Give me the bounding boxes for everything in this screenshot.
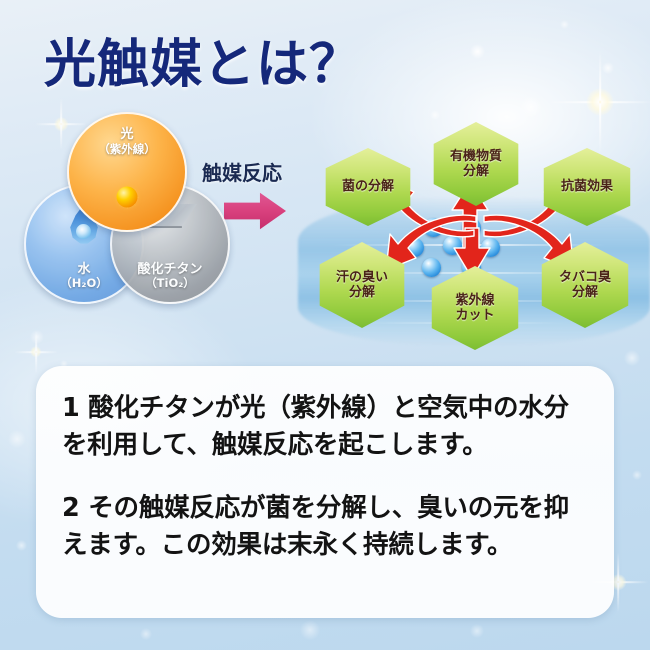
explanation-paragraph-2: 2 その触媒反応が菌を分解し、臭いの元を抑えます。この効果は末永く持続します。 (62, 490, 588, 564)
venn-diagram: 水 （H₂O） 酸化チタン （TiO₂） 光 （紫外線） (22, 112, 232, 317)
venn-label-light-main: 光 (120, 127, 133, 142)
hexagon-sweat-line2: 分解 (336, 285, 388, 300)
explanation-panel: 1 酸化チタンが光（紫外線）と空気中の水分を利用して、触媒反応を起こします。 2… (36, 366, 614, 618)
venn-label-light-sub: （紫外線） (69, 143, 185, 156)
explanation-paragraph-1: 1 酸化チタンが光（紫外線）と空気中の水分を利用して、触媒反応を起こします。 (62, 390, 588, 464)
hexagon-antibacterial-line1: 抗菌効果 (561, 179, 613, 194)
venn-circle-light: 光 （紫外線） (67, 112, 187, 232)
venn-label-tio2-main: 酸化チタン (137, 262, 202, 277)
hexagon-bacteria-line1: 菌の分解 (342, 179, 394, 194)
hexagon-uvcut-line1: 紫外線 (455, 293, 494, 308)
hexagon-tobacco-line2: 分解 (559, 285, 611, 300)
catalytic-reaction-label: 触媒反応 (202, 157, 282, 186)
sun-icon (104, 174, 150, 220)
right-arrow-icon (224, 192, 286, 230)
hexagon-tobacco-line1: タバコ臭 (559, 270, 611, 285)
effects-cluster: 有機物質 分解 菌の分解 抗菌効果 汗の臭い 分解 タバコ臭 分解 (300, 122, 650, 350)
venn-label-tio2: 酸化チタン （TiO₂） (112, 263, 228, 290)
photocatalyst-infographic: 光触媒とは？ 水 （H₂O） 酸化チタン （TiO₂） (0, 0, 650, 650)
venn-label-tio2-sub: （TiO₂） (112, 277, 228, 290)
hexagon-sweat-line1: 汗の臭い (336, 270, 388, 285)
venn-label-light: 光 （紫外線） (69, 128, 185, 155)
venn-label-water-main: 水 (77, 262, 90, 277)
hexagon-organic-line1: 有機物質 (450, 149, 502, 164)
hexagon-uvcut-line2: カット (455, 308, 494, 323)
hexagon-organic-line2: 分解 (450, 164, 502, 179)
page-title: 光触媒とは？ (44, 22, 362, 97)
